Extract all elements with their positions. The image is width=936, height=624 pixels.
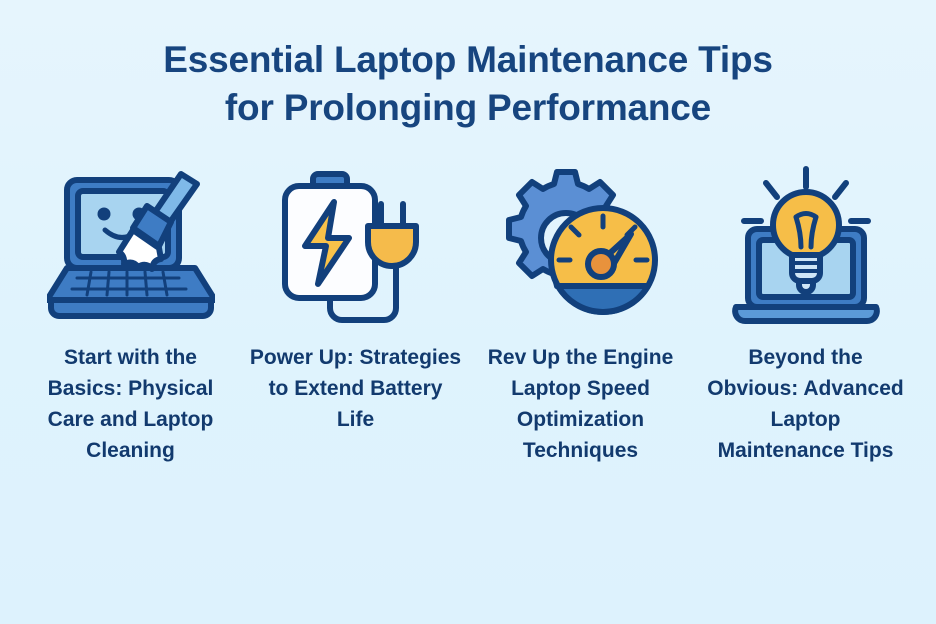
tip-caption: Beyond the Obvious: Advanced Laptop Main… <box>706 342 906 466</box>
gear-speedometer-icon <box>496 166 666 326</box>
tip-caption: Power Up: Strategies to Extend Battery L… <box>248 342 463 435</box>
tip-caption: Start with the Basics: Physical Care and… <box>31 342 231 466</box>
battery-charging-plug-icon <box>271 166 441 326</box>
laptop-cleaning-brush-icon <box>46 166 216 326</box>
tip-card-2: Power Up: Strategies to Extend Battery L… <box>243 166 468 435</box>
laptop-lightbulb-idea-icon <box>721 166 891 326</box>
page-title: Essential Laptop Maintenance Tips for Pr… <box>83 36 853 132</box>
tip-card-3: Rev Up the Engine Laptop Speed Optimizat… <box>468 166 693 466</box>
tip-caption: Rev Up the Engine Laptop Speed Optimizat… <box>473 342 688 466</box>
title-line-1: Essential Laptop Maintenance Tips <box>83 36 853 84</box>
tip-card-4: Beyond the Obvious: Advanced Laptop Main… <box>693 166 918 466</box>
tips-card-row: Start with the Basics: Physical Care and… <box>18 166 918 466</box>
title-line-2: for Prolonging Performance <box>83 84 853 132</box>
infographic-poster: Essential Laptop Maintenance Tips for Pr… <box>0 0 936 624</box>
tip-card-1: Start with the Basics: Physical Care and… <box>18 166 243 466</box>
